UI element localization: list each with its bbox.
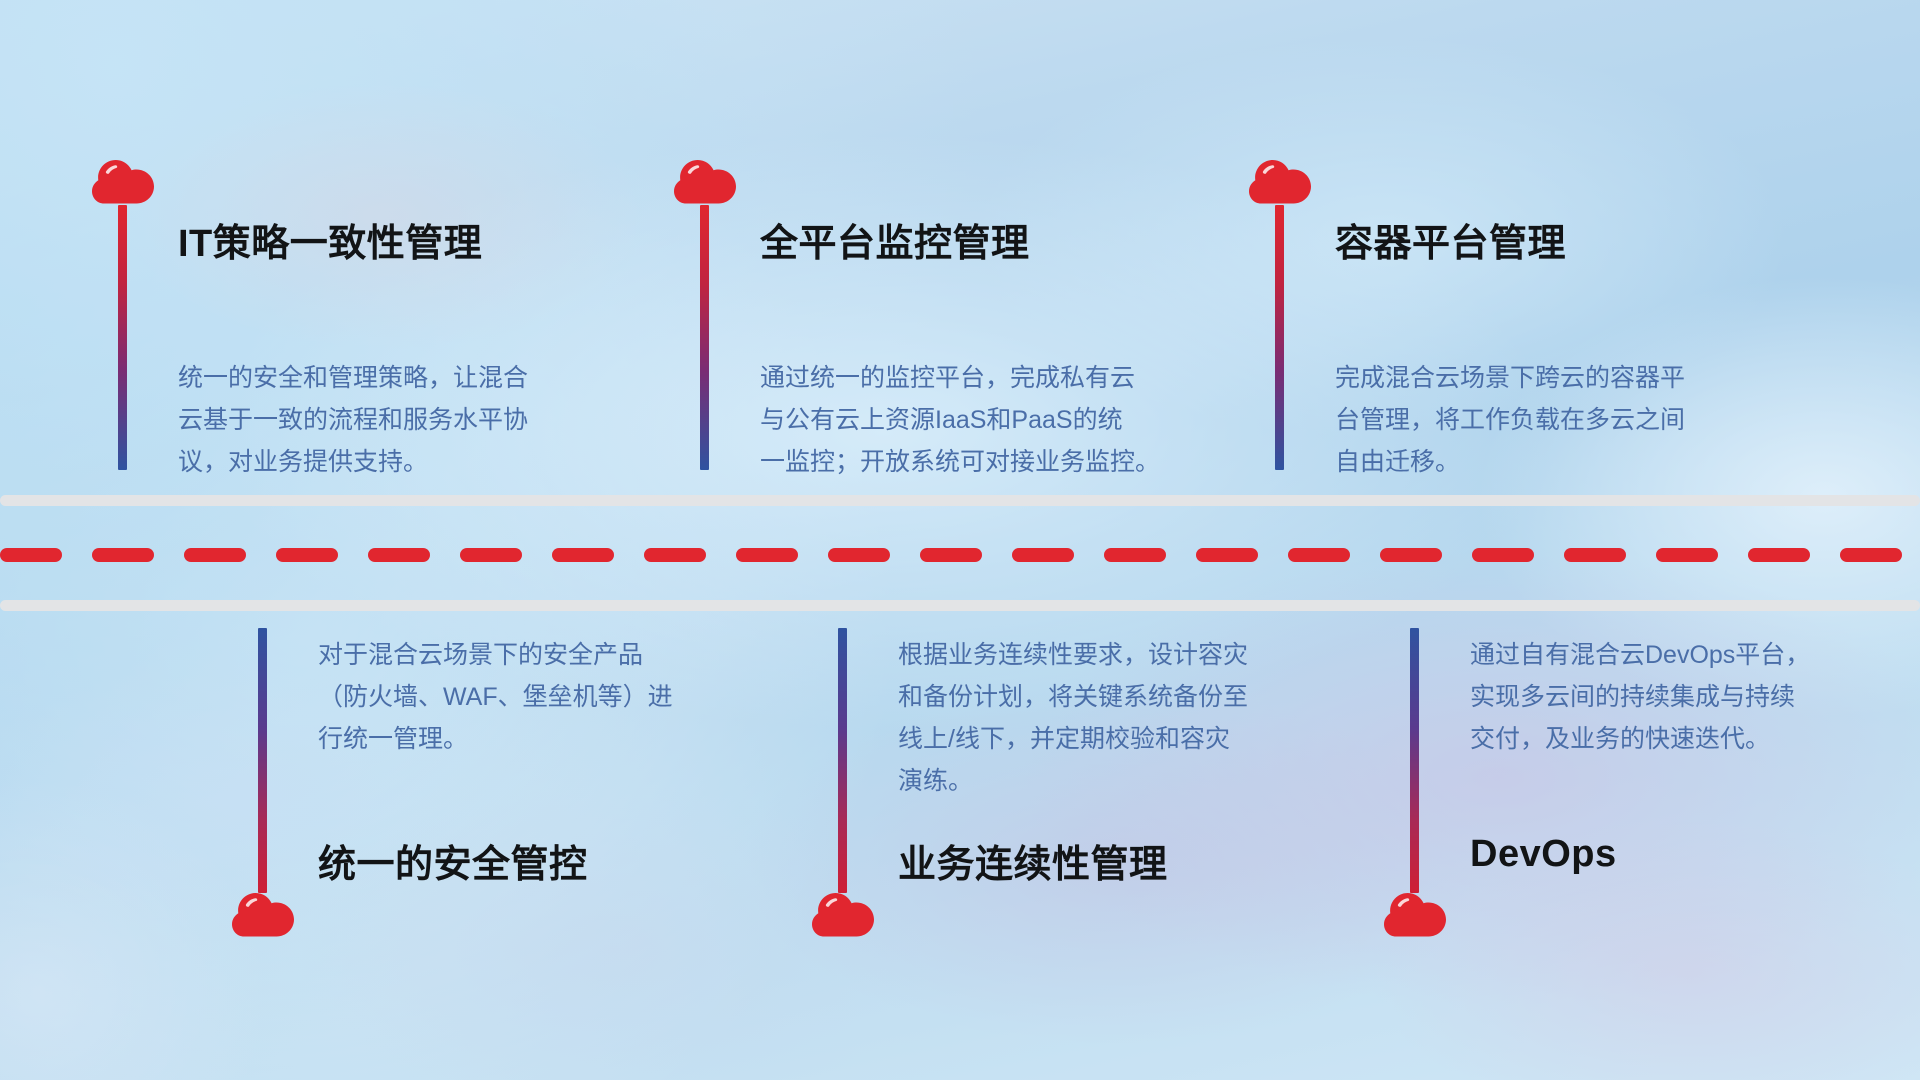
card-title: DevOps [1470, 833, 1617, 876]
connector-bar [1275, 205, 1284, 470]
card-title: 业务连续性管理 [898, 833, 1168, 888]
dash-segment [828, 548, 890, 562]
cloud-icon [1384, 893, 1446, 937]
dash-segment [1104, 548, 1166, 562]
road-line-top [0, 495, 1920, 506]
dash-segment [368, 548, 430, 562]
card-body: 完成混合云场景下跨云的容器平 台管理，将工作负载在多云之间 自由迁移。 [1335, 357, 1775, 483]
card-title: 全平台监控管理 [760, 212, 1030, 267]
cloud-icon [232, 893, 294, 937]
connector-bar [700, 205, 709, 470]
dash-segment [1472, 548, 1534, 562]
card-body: 统一的安全和管理策略，让混合 云基于一致的流程和服务水平协 议，对业务提供支持。 [178, 357, 608, 483]
dash-segment [276, 548, 338, 562]
dash-segment [1656, 548, 1718, 562]
infographic-canvas: IT策略一致性管理 统一的安全和管理策略，让混合 云基于一致的流程和服务水平协 … [0, 0, 1920, 1080]
cloud-icon [1249, 160, 1311, 204]
dash-segment [0, 548, 62, 562]
card-title: IT策略一致性管理 [178, 212, 482, 267]
dash-segment [552, 548, 614, 562]
connector-bar [1410, 628, 1419, 893]
dash-segment [736, 548, 798, 562]
connector-bar [118, 205, 127, 470]
card-title: 统一的安全管控 [318, 833, 588, 888]
dash-segment [644, 548, 706, 562]
dash-segment [1748, 548, 1810, 562]
cloud-icon [812, 893, 874, 937]
cloud-icon [674, 160, 736, 204]
dash-segment [1012, 548, 1074, 562]
dash-segment [1840, 548, 1902, 562]
dash-segment [460, 548, 522, 562]
dash-segment [1380, 548, 1442, 562]
card-title: 容器平台管理 [1335, 212, 1566, 267]
cloud-icon [92, 160, 154, 204]
dash-segment [1288, 548, 1350, 562]
card-body: 通过自有混合云DevOps平台， 实现多云间的持续集成与持续 交付，及业务的快速… [1470, 634, 1890, 760]
dash-segment [1196, 548, 1258, 562]
card-body: 对于混合云场景下的安全产品 （防火墙、WAF、堡垒机等）进 行统一管理。 [318, 634, 748, 760]
dash-segment [1564, 548, 1626, 562]
dash-segment [92, 548, 154, 562]
card-body: 根据业务连续性要求，设计容灾 和备份计划，将关键系统备份至 线上/线下，并定期校… [898, 634, 1338, 802]
dash-segment [184, 548, 246, 562]
connector-bar [838, 628, 847, 893]
road-line-bottom [0, 600, 1920, 611]
connector-bar [258, 628, 267, 893]
road-dashes [0, 548, 1920, 562]
card-body: 通过统一的监控平台，完成私有云 与公有云上资源IaaS和PaaS的统 一监控；开… [760, 357, 1210, 483]
dash-segment [920, 548, 982, 562]
